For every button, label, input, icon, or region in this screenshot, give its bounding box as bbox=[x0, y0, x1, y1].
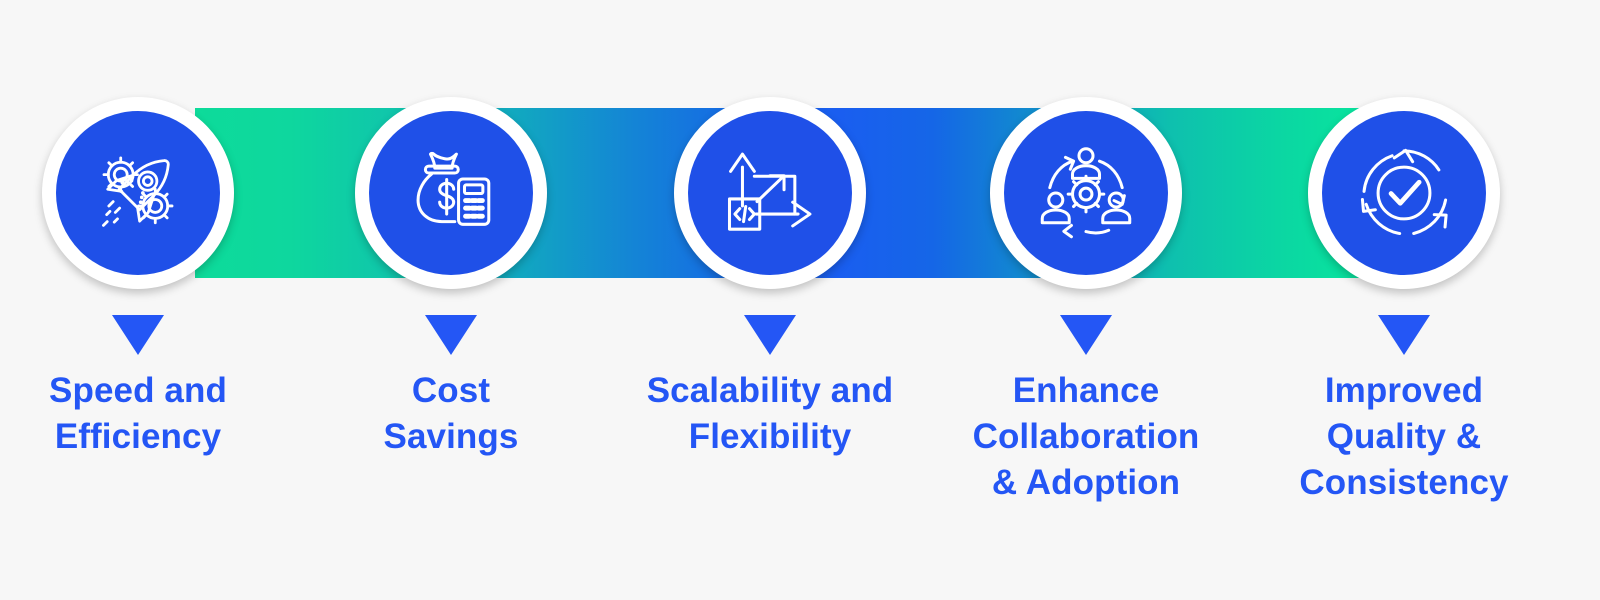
step-label-2: Cost Savings bbox=[301, 368, 601, 460]
steps-container: Speed and Efficiency bbox=[0, 0, 1600, 600]
step-label-5: Improved Quality & Consistency bbox=[1254, 368, 1554, 506]
check-circle-refresh-icon bbox=[1350, 139, 1458, 247]
icon-badge-2[interactable] bbox=[355, 97, 547, 289]
icon-badge-3[interactable] bbox=[674, 97, 866, 289]
code-scale-arrows-icon bbox=[716, 139, 824, 247]
step-item-5[interactable]: Improved Quality & Consistency bbox=[1266, 0, 1542, 600]
step-label-4: Enhance Collaboration & Adoption bbox=[936, 368, 1236, 506]
step-pointer-4 bbox=[1060, 315, 1112, 355]
step-pointer-3 bbox=[744, 315, 796, 355]
icon-badge-inner-2 bbox=[369, 111, 533, 275]
step-label-1: Speed and Efficiency bbox=[0, 368, 288, 460]
icon-badge-inner-4 bbox=[1004, 111, 1168, 275]
team-gear-collaboration-icon bbox=[1032, 139, 1140, 247]
step-pointer-2 bbox=[425, 315, 477, 355]
step-item-3[interactable]: Scalability and Flexibility bbox=[632, 0, 908, 600]
icon-badge-inner-3 bbox=[688, 111, 852, 275]
icon-badge-inner-1 bbox=[56, 111, 220, 275]
step-item-1[interactable]: Speed and Efficiency bbox=[0, 0, 276, 600]
icon-badge-1[interactable] bbox=[42, 97, 234, 289]
icon-badge-5[interactable] bbox=[1308, 97, 1500, 289]
money-bag-calculator-icon bbox=[397, 139, 505, 247]
icon-badge-inner-5 bbox=[1322, 111, 1486, 275]
step-pointer-5 bbox=[1378, 315, 1430, 355]
icon-badge-4[interactable] bbox=[990, 97, 1182, 289]
step-item-4[interactable]: Enhance Collaboration & Adoption bbox=[948, 0, 1224, 600]
rocket-gear-icon bbox=[84, 139, 192, 247]
step-pointer-1 bbox=[112, 315, 164, 355]
infographic-root: Speed and Efficiency bbox=[0, 0, 1600, 600]
step-label-3: Scalability and Flexibility bbox=[620, 368, 920, 460]
step-item-2[interactable]: Cost Savings bbox=[313, 0, 589, 600]
